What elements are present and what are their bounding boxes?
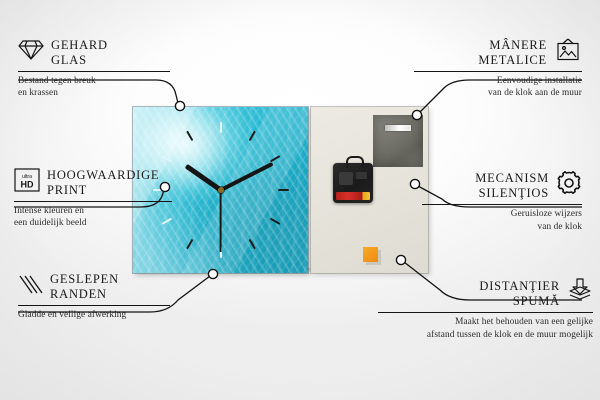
svg-text:HD: HD xyxy=(21,180,34,190)
callout-title-line1: GEHARD xyxy=(51,38,108,52)
callout-title-line2: RANDEN xyxy=(50,287,107,301)
callout-gehard-glas: GEHARD GLAS Bestand tegen breuk en krass… xyxy=(18,38,178,100)
callout-sub-line1: Gladde en veilige afwerking xyxy=(18,310,126,320)
callout-sub-line1: Intense kleuren en xyxy=(14,206,84,216)
diamond-icon xyxy=(18,39,44,66)
callout-title-line2: METALICE xyxy=(478,53,547,67)
callout-title-line2: GLAS xyxy=(51,53,87,67)
callout-manere-metalice: MÂNERE METALICE Eenvoudige installatie v… xyxy=(414,38,582,100)
callout-title-line2: SPUMĂ xyxy=(513,294,560,308)
callout-sub-line2: een duidelijk beeld xyxy=(14,218,87,228)
hanging-loop-icon xyxy=(346,156,364,168)
callout-sub-line2: van de klok xyxy=(538,222,582,232)
battery-part xyxy=(336,192,370,200)
foam-spacer-part xyxy=(363,247,378,262)
callout-sub-line2: en krassen xyxy=(18,88,58,98)
callout-hoogwaardige-print: ultra HD HOOGWAARDIGE PRINT Intense kleu… xyxy=(14,168,182,230)
callout-title-line2: PRINT xyxy=(47,183,87,197)
metal-hanger-part xyxy=(373,115,423,167)
callout-sub-line1: Bestand tegen breuk xyxy=(18,76,96,86)
callout-rule xyxy=(18,71,170,72)
callout-rule xyxy=(414,71,582,72)
clock-second-hand xyxy=(220,190,222,252)
mechanism-detail xyxy=(356,172,367,179)
callout-title-line1: GESLEPEN xyxy=(50,272,119,286)
callout-sub-line1: Maakt het behouden van een gelijke xyxy=(455,317,593,327)
callout-sub-line2: afstand tussen de klok en de muur mogeli… xyxy=(427,330,593,340)
clock-tick xyxy=(221,189,289,191)
clock-center-pin xyxy=(218,187,224,193)
callout-title-line1: MECANISM xyxy=(475,171,549,185)
clock-back-panel xyxy=(311,107,428,273)
callout-title-line1: DISTANŢIER xyxy=(479,279,560,293)
ultra-hd-icon: ultra HD xyxy=(14,168,40,197)
callout-title-line1: HOOGWAARDIGE xyxy=(47,168,159,182)
callout-rule xyxy=(422,204,582,205)
down-arrow-layers-icon xyxy=(567,278,593,309)
callout-title-line1: MÂNERE xyxy=(489,38,547,52)
callout-sub-line2: van de klok aan de muur xyxy=(488,88,582,98)
mechanism-detail xyxy=(339,172,353,185)
callout-rule xyxy=(14,201,172,202)
callout-geslepen-randen: GESLEPEN RANDEN Gladde en veilige afwerk… xyxy=(18,272,178,321)
clock-tick xyxy=(220,122,222,190)
callout-rule xyxy=(18,305,170,306)
callout-distantier-spuma: DISTANŢIER SPUMĂ Maakt het behouden van … xyxy=(378,278,593,341)
picture-frame-icon xyxy=(554,38,582,67)
callout-sub-line1: Geruisloze wijzers xyxy=(511,209,582,219)
callout-title-line2: SILENŢIOS xyxy=(479,186,549,200)
clock-mechanism-part xyxy=(333,163,373,203)
gear-icon xyxy=(556,170,582,201)
callout-sub-line1: Eenvoudige installatie xyxy=(497,76,582,86)
callout-mecanism-silentios: MECANISM SILENŢIOS Geruisloze wijzers va… xyxy=(422,170,582,233)
diagonal-edges-icon xyxy=(18,273,43,300)
callout-rule xyxy=(378,312,593,313)
